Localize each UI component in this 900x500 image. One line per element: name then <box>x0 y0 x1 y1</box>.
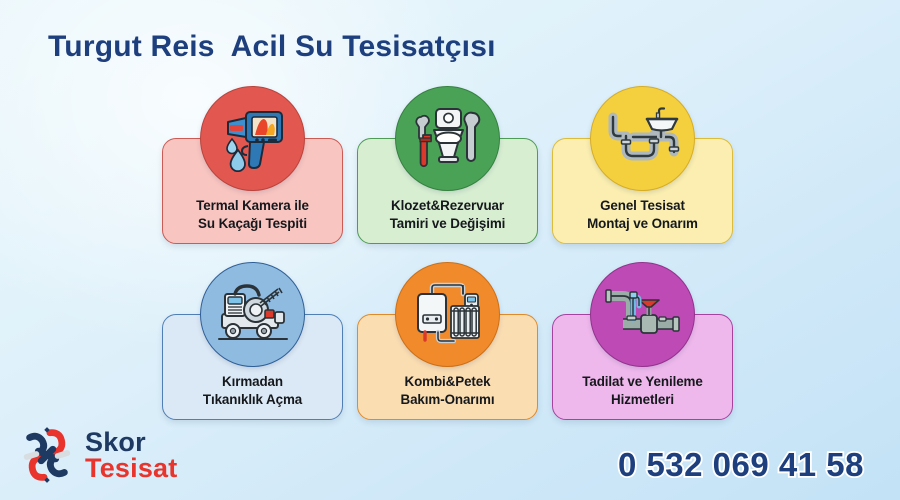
service-icon-circle-thermal-camera <box>200 86 305 191</box>
toilet-wrench-icon <box>409 105 487 173</box>
page-title: Turgut Reis Acil Su Tesisatçısı <box>48 30 496 64</box>
service-card-label: Klozet&Rezervuar Tamiri ve Değişimi <box>362 197 533 233</box>
service-card-label: Termal Kamera ile Su Kaçağı Tespiti <box>167 197 338 233</box>
service-card-label: Tadilat ve Yenileme Hizmetleri <box>557 373 728 409</box>
brand-logo-text: Skor Tesisat <box>85 429 177 481</box>
brand-name-primary: Skor <box>85 429 177 455</box>
poster-canvas: Turgut Reis Acil Su Tesisatçısı Termal K… <box>0 0 900 500</box>
service-icon-circle-boiler-radiator <box>395 262 500 367</box>
service-card-label: Kombi&Petek Bakım-Onarımı <box>362 373 533 409</box>
drain-machine-icon <box>213 284 293 346</box>
thermal-camera-icon <box>216 106 290 172</box>
service-icon-circle-renovation <box>590 262 695 367</box>
brand-logo[interactable]: Skor Tesisat <box>18 426 177 484</box>
valve-pipe-icon <box>603 286 683 344</box>
service-icon-circle-toilet-repair <box>395 86 500 191</box>
service-card-label: Genel Tesisat Montaj ve Onarım <box>557 197 728 233</box>
service-card-label: Kırmadan Tıkanıklık Açma <box>167 373 338 409</box>
service-icon-circle-drain-unblocking <box>200 262 305 367</box>
services-grid: Termal Kamera ile Su Kaçağı Tespiti <box>162 138 738 420</box>
service-icon-circle-general-plumbing <box>590 86 695 191</box>
phone-number[interactable]: 0 532 069 41 58 <box>618 446 864 484</box>
brand-name-secondary: Tesisat <box>85 455 177 481</box>
skor-logo-mark-icon <box>18 426 76 484</box>
sink-pipes-icon <box>603 107 683 171</box>
boiler-radiator-icon <box>410 282 486 348</box>
